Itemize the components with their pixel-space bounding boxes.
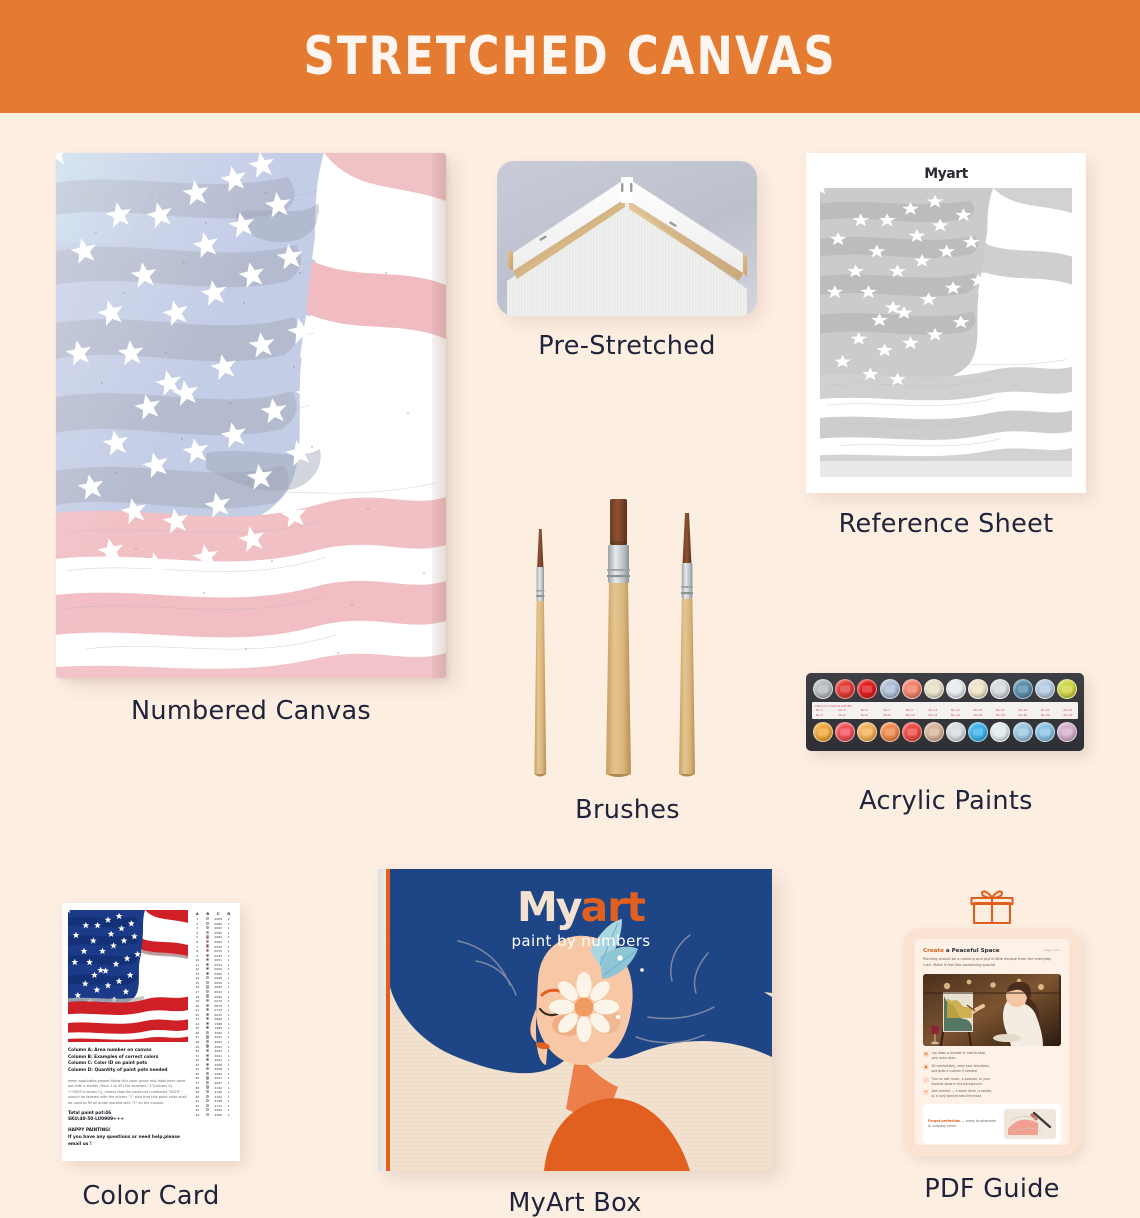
cell-color-id: 0062 <box>213 926 224 930</box>
tray-number-mark: No.2 <box>816 713 823 717</box>
cell-color-id: 2200 <box>213 1113 224 1117</box>
paint-pot <box>902 722 922 742</box>
chair-icon: ▣ <box>923 1064 929 1070</box>
tray-number-mark: No.16 <box>974 713 983 717</box>
page-header: STRETCHED CANVAS <box>0 0 1140 113</box>
pdf-note-text: Forget perfection — every brushstroke is… <box>928 1119 999 1130</box>
cell-quantity: 1 <box>224 1040 235 1044</box>
cell-color-id: 2009 <box>213 1063 224 1067</box>
color-card-legend: Column A: Area number on canvas Column B… <box>68 1048 188 1149</box>
caption-numbered-canvas: Numbered Canvas <box>56 696 446 726</box>
color-card-paper: Column A: Area number on canvas Column B… <box>62 903 240 1161</box>
cell-area-number: 36 <box>192 1076 203 1080</box>
paint-pot <box>924 679 944 699</box>
cell-color-swatch <box>203 1004 214 1008</box>
pdf-page-number: page 1 of 1 <box>1044 948 1061 952</box>
tray-number-mark: No.22 <box>1041 713 1050 717</box>
cell-color-swatch <box>203 1026 214 1030</box>
cell-area-number: 44 <box>192 1113 203 1117</box>
cell-quantity: 1 <box>224 949 235 953</box>
cell-color-id: 2001 <box>213 1076 224 1080</box>
cell-quantity: 1 <box>224 985 235 989</box>
cell-area-number: 39 <box>192 1090 203 1094</box>
brushstroke-thumbnail-icon <box>1004 1109 1056 1139</box>
cell-color-id: 0675 <box>213 1004 224 1008</box>
cell-area-number: 8 <box>192 949 203 953</box>
cell-color-id: 0660 <box>213 1017 224 1021</box>
tray-number-mark: No.4 <box>839 713 846 717</box>
col-header-a: A <box>192 912 203 916</box>
tray-number-mark: No.20 <box>1019 713 1028 717</box>
cell-color-swatch <box>203 949 214 953</box>
cell-color-id: 2007 <box>213 1081 224 1085</box>
cell-color-id: 0009 <box>213 917 224 921</box>
cell-color-swatch <box>203 1081 214 1085</box>
paint-pot <box>880 722 900 742</box>
cell-area-number: 28 <box>192 1040 203 1044</box>
cell-quantity: 1 <box>224 967 235 971</box>
tray-number-mark: No.10 <box>906 713 915 717</box>
cell-quantity: 1 <box>224 990 235 994</box>
paint-pot <box>880 679 900 699</box>
cell-area-number: 35 <box>192 1072 203 1076</box>
tray-number-mark: No.3 <box>839 708 846 712</box>
cell-color-id: 2009 <box>213 1049 224 1053</box>
cell-quantity: 1 <box>224 1045 235 1049</box>
cell-color-swatch <box>203 1090 214 1094</box>
legend-line-a: Column A: Area number on canvas <box>68 1048 188 1055</box>
cell-area-number: 13 <box>192 972 203 976</box>
cell-color-swatch <box>203 1022 214 1026</box>
paint-pot <box>1035 679 1055 699</box>
cell-color-swatch <box>203 1054 214 1058</box>
cell-area-number: 15 <box>192 981 203 985</box>
pdf-guide-subtitle: Painting should be a calming and joyful … <box>923 957 1061 969</box>
pdf-tip-text: Sit comfortably, relax your shoulders, a… <box>932 1064 994 1074</box>
cell-area-number: 19 <box>192 999 203 1003</box>
cell-area-number: 41 <box>192 1099 203 1103</box>
cell-quantity: 1 <box>224 922 235 926</box>
paint-pot <box>1057 679 1077 699</box>
cell-quantity: 1 <box>224 1049 235 1053</box>
paint-pot <box>1013 679 1033 699</box>
cell-quantity: 1 <box>224 1013 235 1017</box>
cell-area-number: 6 <box>192 940 203 944</box>
col-header-c: C <box>213 912 224 916</box>
item-acrylic-paints[interactable]: TRAY ID / COLOR CODES No.1No.3No.5No.7No… <box>806 673 1086 816</box>
reference-sheet-artwork <box>820 188 1072 477</box>
cell-quantity: 1 <box>224 1072 235 1076</box>
cell-area-number: 16 <box>192 985 203 989</box>
cell-quantity: 1 <box>224 999 235 1003</box>
color-flag-svg <box>68 910 188 1042</box>
tray-number-mark: No.5 <box>861 708 868 712</box>
cell-quantity: 1 <box>224 1031 235 1035</box>
cell-quantity: 1 <box>224 1086 235 1090</box>
paint-pot <box>813 679 833 699</box>
cell-color-id: 0054 <box>213 963 224 967</box>
cell-color-swatch <box>203 1067 214 1071</box>
cell-quantity: 1 <box>224 1004 235 1008</box>
paint-pot <box>924 722 944 742</box>
cell-color-swatch <box>203 972 214 976</box>
cell-color-swatch <box>203 985 214 989</box>
cell-area-number: 2 <box>192 922 203 926</box>
sku-code: SKU:40-50-LU0909+++ <box>68 1117 188 1124</box>
item-color-card[interactable]: Column A: Area number on canvas Column B… <box>62 903 240 1211</box>
reference-sheet-logo: Myart <box>924 166 968 182</box>
cell-color-swatch <box>203 967 214 971</box>
paint-pot <box>990 722 1010 742</box>
cell-quantity: 1 <box>224 963 235 967</box>
cell-quantity: 1 <box>224 1026 235 1030</box>
item-pre-stretched[interactable]: Pre-Stretched <box>497 161 757 361</box>
cell-quantity: 1 <box>224 1090 235 1094</box>
cell-quantity: 1 <box>224 1081 235 1085</box>
color-card-table: A B C D 10009220060130062140060150064160… <box>192 910 234 1154</box>
pdf-tip-item: ♪Turn on soft music, a podcast, or your … <box>923 1077 993 1087</box>
cell-color-swatch <box>203 1113 214 1117</box>
paint-pot <box>1013 722 1033 742</box>
cell-area-number: 22 <box>192 1013 203 1017</box>
cell-color-swatch <box>203 1108 214 1112</box>
cell-color-id: 0065 <box>213 940 224 944</box>
cell-area-number: 31 <box>192 1054 203 1058</box>
cell-color-swatch <box>203 1040 214 1044</box>
cell-color-swatch <box>203 1044 214 1048</box>
cell-color-swatch <box>203 1104 214 1108</box>
contact-text: If you have any questions or need help,p… <box>68 1135 188 1149</box>
cell-quantity: 1 <box>224 995 235 999</box>
cell-color-id: 0051 <box>213 958 224 962</box>
cell-color-swatch <box>203 1035 214 1039</box>
cell-area-number: 7 <box>192 945 203 949</box>
pdf-guide-tips-list: ▤Lay down a blanket or mat to keep your … <box>923 1051 1061 1100</box>
tray-number-mark: No.7 <box>884 708 891 712</box>
cell-quantity: 1 <box>224 976 235 980</box>
cell-quantity: 1 <box>224 945 235 949</box>
cell-color-swatch <box>203 958 214 962</box>
tray-number-mark: No.8 <box>884 713 891 717</box>
cell-area-number: 30 <box>192 1049 203 1053</box>
tray-number-mark: No.9 <box>906 708 913 712</box>
cell-area-number: 25 <box>192 1026 203 1030</box>
pdf-tip-item: ✦Add comfort — a warm drink, a candle, o… <box>923 1089 993 1099</box>
cell-area-number: 33 <box>192 1063 203 1067</box>
cell-area-number: 1 <box>192 917 203 921</box>
cell-color-swatch <box>203 981 214 985</box>
cell-quantity: 1 <box>224 1022 235 1026</box>
paint-pot <box>990 679 1010 699</box>
cell-color-id: 2008 <box>213 1067 224 1071</box>
cell-area-number: 24 <box>192 1022 203 1026</box>
tray-number-mark: No.21 <box>1041 708 1050 712</box>
canvas-corner-icon <box>497 161 757 316</box>
tray-number-mark: No.17 <box>996 708 1005 712</box>
paint-pot <box>946 679 966 699</box>
cell-color-id: 2000 <box>213 1031 224 1035</box>
item-reference-sheet[interactable]: Myart <box>806 153 1086 539</box>
pdf-tip-text: Turn on soft music, a podcast, or your f… <box>932 1077 994 1087</box>
tray-number-mark: No.19 <box>1019 708 1028 712</box>
caption-pre-stretched: Pre-Stretched <box>497 331 757 361</box>
pdf-tip-text: Add comfort — a warm drink, a candle, or… <box>932 1089 994 1099</box>
legend-line-d: Column D: Quantity of paint pots needed <box>68 1068 188 1075</box>
cell-color-id: 1968 <box>213 1022 224 1026</box>
candle-icon: ✦ <box>923 1089 929 1095</box>
cell-color-swatch <box>203 963 214 967</box>
cell-quantity: 1 <box>224 1017 235 1021</box>
cell-quantity: 1 <box>224 940 235 944</box>
cell-area-number: 34 <box>192 1067 203 1071</box>
pdf-guide-photo <box>923 974 1061 1046</box>
cell-area-number: 23 <box>192 1017 203 1021</box>
cell-color-id: 1999 <box>213 1026 224 1030</box>
cell-color-id: 0050 <box>213 981 224 985</box>
paint-tray-icon: TRAY ID / COLOR CODES No.1No.3No.5No.7No… <box>806 673 1084 751</box>
tray-number-mark: No.18 <box>996 713 1005 717</box>
cell-color-swatch <box>203 1095 214 1099</box>
cell-area-number: 26 <box>192 1031 203 1035</box>
cell-quantity: 1 <box>224 1008 235 1012</box>
col-header-b: B <box>203 912 214 916</box>
cell-area-number: 40 <box>192 1095 203 1099</box>
cell-color-swatch <box>203 954 214 958</box>
paint-pot-row-bottom <box>810 722 1080 742</box>
paint-pot <box>857 722 877 742</box>
cell-color-swatch <box>203 935 214 939</box>
cell-area-number: 11 <box>192 963 203 967</box>
cell-color-id: 0070 <box>213 999 224 1003</box>
caption-acrylic-paints: Acrylic Paints <box>806 786 1086 816</box>
paint-pot <box>835 679 855 699</box>
paint-pot <box>813 722 833 742</box>
tray-number-mark: No.1 <box>816 708 823 712</box>
cell-area-number: 4 <box>192 931 203 935</box>
cell-quantity: 1 <box>224 1063 235 1067</box>
cell-color-id: 2001 <box>213 1054 224 1058</box>
cell-quantity: 1 <box>224 1108 235 1112</box>
paint-pot <box>1057 722 1077 742</box>
logo-text-my: My <box>517 883 581 931</box>
cell-color-id: 0035 <box>213 945 224 949</box>
product-box-icon: Myart paint by numbers <box>378 869 772 1171</box>
gift-icon-wrap <box>896 888 1088 924</box>
page-title: STRETCHED CANVAS <box>303 26 836 87</box>
cell-color-id: 0070 <box>213 949 224 953</box>
paint-pot <box>902 679 922 699</box>
cell-area-number: 29 <box>192 1045 203 1049</box>
brushes-photo <box>500 491 755 781</box>
cell-area-number: 37 <box>192 1081 203 1085</box>
cell-color-swatch <box>203 1072 214 1076</box>
cell-color-swatch <box>203 999 214 1003</box>
cell-area-number: 42 <box>192 1104 203 1108</box>
cell-color-swatch <box>203 1058 214 1062</box>
cell-color-id: 2002 <box>213 1045 224 1049</box>
cell-color-id: 0040 <box>213 976 224 980</box>
cell-color-id: 2002 <box>213 1058 224 1062</box>
pdf-guide-page: page 1 of 1 Create a Peaceful Space Pain… <box>915 939 1069 1145</box>
caption-reference-sheet: Reference Sheet <box>806 509 1086 539</box>
gift-icon <box>969 890 1015 924</box>
cell-color-id: 0065 <box>213 985 224 989</box>
cell-area-number: 3 <box>192 926 203 930</box>
cell-color-swatch <box>203 1085 214 1089</box>
cell-quantity: 1 <box>224 1058 235 1062</box>
pre-stretched-photo <box>497 161 757 316</box>
cell-area-number: 17 <box>192 990 203 994</box>
cell-color-swatch <box>203 994 214 998</box>
blanket-icon: ▤ <box>923 1051 929 1057</box>
pdf-title-accent: Create <box>923 948 944 954</box>
cell-color-id: 0060 <box>213 922 224 926</box>
flag-artwork-svg <box>56 153 446 678</box>
cell-color-id: 0066 <box>213 995 224 999</box>
woman-painting-photo <box>923 974 1059 1046</box>
paint-pot-row-top <box>810 679 1080 699</box>
cell-color-swatch <box>203 940 214 944</box>
box-front-artwork: Myart paint by numbers <box>390 869 772 1171</box>
cell-color-swatch <box>203 1049 214 1053</box>
cell-color-id: 2152 <box>213 1095 224 1099</box>
color-card-instructions: when applicable,please follow this color… <box>68 1079 188 1107</box>
cell-color-id: 2140 <box>213 1086 224 1090</box>
cell-quantity: 1 <box>224 926 235 930</box>
cell-color-swatch <box>203 1017 214 1021</box>
cell-color-swatch <box>203 922 214 926</box>
cell-area-number: 10 <box>192 958 203 962</box>
color-card-flag-image <box>68 910 188 1042</box>
cell-color-swatch <box>203 1013 214 1017</box>
logo-text-art: art <box>581 883 646 931</box>
cell-area-number: 20 <box>192 1004 203 1008</box>
table-header-row: A B C D <box>192 912 234 916</box>
cell-quantity: 1 <box>224 1076 235 1080</box>
box-logo-block: Myart paint by numbers <box>390 883 772 950</box>
cell-color-swatch <box>203 931 214 935</box>
cell-color-swatch <box>203 1099 214 1103</box>
item-pdf-guide[interactable]: page 1 of 1 Create a Peaceful Space Pain… <box>896 888 1088 1204</box>
color-card-left-column: Column A: Area number on canvas Column B… <box>68 910 188 1154</box>
tray-number-mark: No.13 <box>951 708 960 712</box>
cell-quantity: 1 <box>224 981 235 985</box>
cell-area-number: 9 <box>192 954 203 958</box>
cell-color-id: 2003 <box>213 1040 224 1044</box>
cell-quantity: 1 <box>224 972 235 976</box>
paint-pot <box>835 722 855 742</box>
cell-quantity: 1 <box>224 954 235 958</box>
numbered-canvas-image <box>56 153 446 678</box>
music-icon: ♪ <box>923 1077 929 1083</box>
cell-color-id: 2148 <box>213 1099 224 1103</box>
cell-area-number: 14 <box>192 976 203 980</box>
flag-paint-by-numbers-artwork <box>56 153 446 678</box>
pdf-tip-item: ▤Lay down a blanket or mat to keep your … <box>923 1051 993 1061</box>
cell-color-id: 0035 <box>213 954 224 958</box>
grayscale-flag-svg <box>820 188 1072 461</box>
pdf-guide-title: Create a Peaceful Space <box>923 948 1061 954</box>
cell-color-id: 0064 <box>213 935 224 939</box>
cell-color-swatch <box>203 1063 214 1067</box>
cell-quantity: 1 <box>224 1095 235 1099</box>
box-spine-edge <box>378 869 390 1171</box>
cell-color-id: 0060 <box>213 972 224 976</box>
cell-color-swatch <box>203 1008 214 1012</box>
pdf-title-rest: a Peaceful Space <box>944 948 1000 954</box>
cell-quantity: 1 <box>224 958 235 962</box>
reference-sheet-paper: Myart <box>806 153 1086 493</box>
cell-color-swatch <box>203 1031 214 1035</box>
cell-quantity: 1 <box>224 931 235 935</box>
cell-quantity: 1 <box>224 935 235 939</box>
cell-area-number: 32 <box>192 1058 203 1062</box>
tray-number-mark: No.15 <box>974 708 983 712</box>
tray-number-mark: No.11 <box>929 708 938 712</box>
paint-tray-label-strip: TRAY ID / COLOR CODES No.1No.3No.5No.7No… <box>812 702 1078 719</box>
caption-myart-box: MyArt Box <box>378 1188 772 1218</box>
cell-color-id: 2024 <box>213 1108 224 1112</box>
box-tagline: paint by numbers <box>390 932 772 950</box>
cell-area-number: 18 <box>192 995 203 999</box>
cell-color-id: 2146 <box>213 1090 224 1094</box>
cell-quantity: 1 <box>224 1113 235 1117</box>
cell-area-number: 21 <box>192 1008 203 1012</box>
legend-line-c: Column C: Color ID on paint pots <box>68 1061 188 1068</box>
paint-pot <box>968 722 988 742</box>
paintbrush-icon <box>500 491 755 781</box>
table-row: 4422001 <box>192 1113 234 1118</box>
paint-pot <box>1035 722 1055 742</box>
cell-area-number: 43 <box>192 1108 203 1112</box>
cell-quantity: 1 <box>224 1054 235 1058</box>
cell-area-number: 38 <box>192 1086 203 1090</box>
box-logo-wordmark: Myart <box>390 883 772 931</box>
cell-color-swatch <box>203 976 214 980</box>
cell-color-id: 0060 <box>213 931 224 935</box>
item-brushes[interactable]: Brushes <box>500 491 755 825</box>
cell-color-id: 2001 <box>213 1035 224 1039</box>
cell-color-swatch <box>203 990 214 994</box>
cell-color-id: 2171 <box>213 1104 224 1108</box>
cell-quantity: 1 <box>224 1104 235 1108</box>
paint-pot <box>968 679 988 699</box>
pdf-note-bold: Forget perfection <box>928 1119 961 1123</box>
cell-color-id: 2060 <box>213 1072 224 1076</box>
tray-number-mark: No.24 <box>1064 713 1073 717</box>
item-myart-box[interactable]: Myart paint by numbers MyArt Box <box>378 869 772 1218</box>
cell-area-number: 5 <box>192 935 203 939</box>
caption-pdf-guide: PDF Guide <box>896 1174 1088 1204</box>
paint-pot <box>857 679 877 699</box>
cell-color-swatch <box>203 944 214 948</box>
caption-color-card: Color Card <box>62 1181 240 1211</box>
tray-number-mark: No.23 <box>1064 708 1073 712</box>
cell-color-swatch <box>203 926 214 930</box>
cell-quantity: 1 <box>224 1067 235 1071</box>
pdf-note-thumbnail <box>1004 1109 1056 1139</box>
paint-pot <box>946 722 966 742</box>
cell-color-id: 0713 <box>213 1008 224 1012</box>
pdf-guide-note-box: Forget perfection — every brushstroke is… <box>923 1104 1061 1144</box>
item-numbered-canvas[interactable]: Numbered Canvas <box>56 153 446 726</box>
cell-color-id: 0032 <box>213 1013 224 1017</box>
cell-color-swatch <box>203 1076 214 1080</box>
cell-color-swatch <box>203 917 214 921</box>
caption-brushes: Brushes <box>500 795 755 825</box>
product-contents-grid: Numbered Canvas <box>0 113 1140 1140</box>
tray-number-mark: No.12 <box>929 713 938 717</box>
